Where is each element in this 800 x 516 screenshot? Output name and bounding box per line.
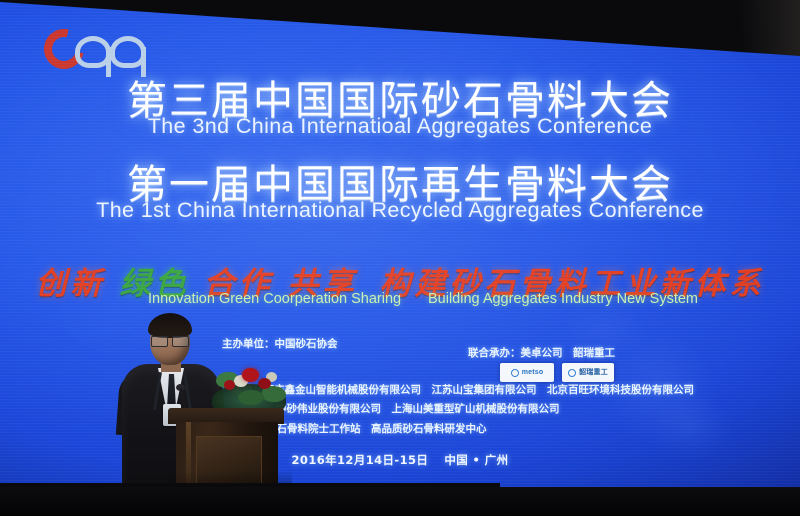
metso-logo: metso xyxy=(500,363,554,382)
caa-logo xyxy=(44,26,162,72)
shaorui-logo: 韶瑞重工 xyxy=(562,363,614,382)
led-presentation-screen: 第三届中国国际砂石骨料大会 The 3nd China Internatioal… xyxy=(0,0,800,516)
shaorui-logo-text: 韶瑞重工 xyxy=(579,369,608,376)
conference-location: 中国 • 广州 xyxy=(444,453,508,467)
logo-letter-a-icon xyxy=(110,36,146,68)
sponsor-line-1: 单位：枣庄鑫金山智能机械股份有限公司 江苏山宝集团有限公司 北京百旺环境科技股份… xyxy=(232,382,694,397)
sponsor-line-2: 中砂伟业股份有限公司 上海山美重型矿山机械股份有限公司 xyxy=(276,401,560,416)
host-organization-line: 主办单位：中国砂石协会 xyxy=(222,336,338,351)
metso-mark-icon xyxy=(511,369,519,377)
slogan-part-innovation: 创新 xyxy=(36,266,106,302)
coorganizer-line: 联合承办：美卓公司 韶瑞重工 xyxy=(468,345,615,360)
shaorui-mark-icon xyxy=(568,369,576,377)
slogan-en-right: Building Aggregates Industry New System xyxy=(428,291,698,307)
conference-title-primary-en: The 3nd China Internatioal Aggregates Co… xyxy=(0,114,800,139)
logo-letter-a-icon xyxy=(75,36,111,68)
conference-title-secondary-en: The 1st China International Recycled Agg… xyxy=(0,198,800,223)
slogan-en-left: Innovation Green Coorperation Sharing xyxy=(148,291,401,307)
sponsor-line-3: ：高品质砂石骨料院士工作站 高品质砂石骨料研发中心 xyxy=(224,421,487,436)
date-and-venue-bar: 2016年12月14日-15日中国 • 广州 xyxy=(0,452,800,468)
conference-date: 2016年12月14日-15日 xyxy=(292,453,429,467)
metso-logo-text: metso xyxy=(522,369,544,376)
conference-photo: 第三届中国国际砂石骨料大会 The 3nd China Internatioal… xyxy=(0,0,800,516)
